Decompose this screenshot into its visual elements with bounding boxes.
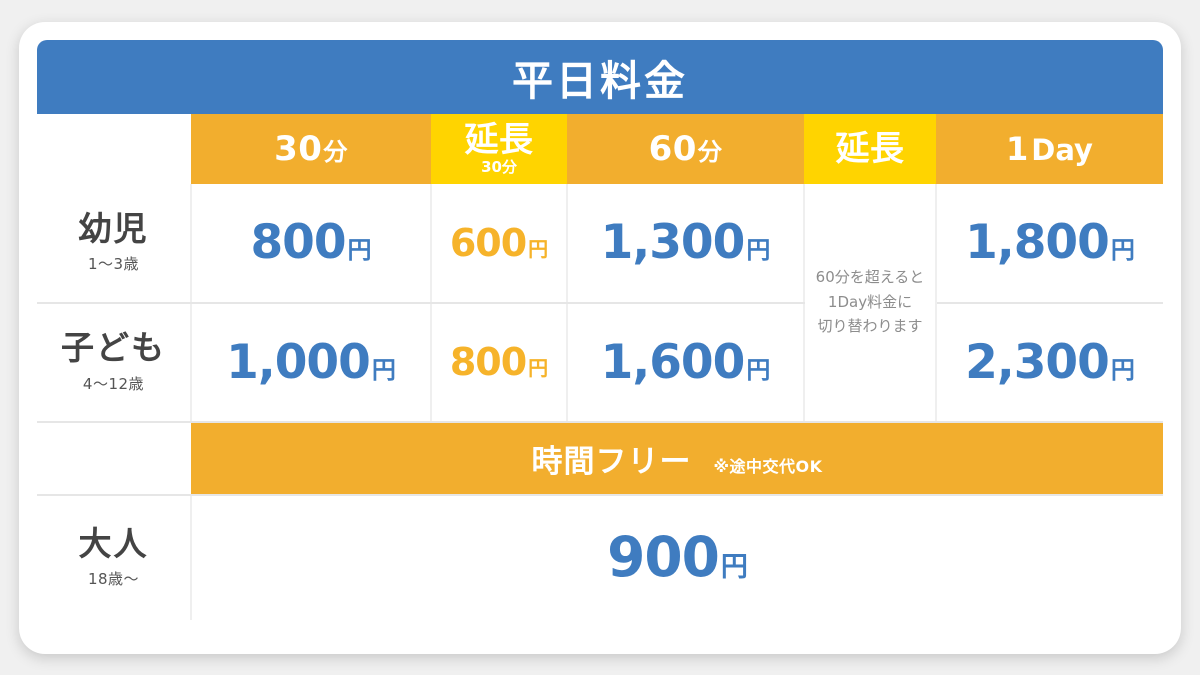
header-extension-1-sub: 30分 xyxy=(431,160,567,175)
table-row: 幼児 1〜3歳 800円 600円 1,300円 60分を超えると 1Day料金… xyxy=(37,184,1163,303)
price-value: 1,000円 xyxy=(226,335,396,390)
header-1day-label: 1Day xyxy=(1006,130,1093,168)
price-infant-60min: 1,300円 xyxy=(567,184,804,303)
pricing-card: 平日料金 30分 延長 30分 60分 延長 xyxy=(19,22,1181,654)
extension-note-line-3: 切り替わります xyxy=(805,314,935,339)
price-infant-1day: 1,800円 xyxy=(936,184,1163,303)
header-cell-extension-2: 延長 xyxy=(804,114,936,184)
header-extension-2-label: 延長 xyxy=(836,129,905,169)
row-label-child-sub: 4〜12歳 xyxy=(37,373,190,394)
header-cell-extension-1: 延長 30分 xyxy=(431,114,567,184)
price-infant-30min: 800円 xyxy=(191,184,431,303)
free-time-label: 時間フリー xyxy=(531,444,691,480)
price-adult: 900円 xyxy=(191,495,1163,620)
header-cell-30min: 30分 xyxy=(191,114,431,184)
extension-note-line-1: 60分を超えると xyxy=(805,265,935,290)
price-child-1day: 2,300円 xyxy=(936,303,1163,422)
row-label-adult-sub: 18歳〜 xyxy=(37,568,190,589)
header-30min-label: 30分 xyxy=(274,129,348,169)
table-header-row: 30分 延長 30分 60分 延長 1Day xyxy=(37,114,1163,184)
free-time-note: ※途中交代OK xyxy=(713,457,822,476)
header-cell-blank xyxy=(37,114,191,184)
rate-table: 30分 延長 30分 60分 延長 1Day 幼児 1〜3歳 8 xyxy=(37,114,1163,620)
extension-note-line-2: 1Day料金に xyxy=(805,290,935,315)
extension-note-cell: 60分を超えると 1Day料金に 切り替わります xyxy=(804,184,936,422)
price-child-30min: 1,000円 xyxy=(191,303,431,422)
free-time-band: 時間フリー※途中交代OK xyxy=(191,422,1163,495)
row-label-infant: 幼児 1〜3歳 xyxy=(37,184,191,303)
row-label-child: 子ども 4〜12歳 xyxy=(37,303,191,422)
row-label-adult-main: 大人 xyxy=(37,526,190,562)
price-value: 800円 xyxy=(250,215,371,270)
row-label-infant-main: 幼児 xyxy=(37,211,190,247)
price-value: 1,800円 xyxy=(965,215,1135,270)
price-child-60min: 1,600円 xyxy=(567,303,804,422)
row-label-adult: 大人 18歳〜 xyxy=(37,495,191,620)
header-60min-label: 60分 xyxy=(649,129,723,169)
row-label-infant-sub: 1〜3歳 xyxy=(37,253,190,274)
price-value: 800円 xyxy=(450,340,548,384)
price-value: 1,600円 xyxy=(601,335,771,390)
header-extension-1-label: 延長 xyxy=(465,120,534,160)
card-title-bar: 平日料金 xyxy=(37,40,1163,114)
price-infant-extension-1: 600円 xyxy=(431,184,567,303)
table-row: 大人 18歳〜 900円 xyxy=(37,495,1163,620)
header-cell-1day: 1Day xyxy=(936,114,1163,184)
price-value: 2,300円 xyxy=(965,335,1135,390)
row-label-child-main: 子ども xyxy=(37,330,190,366)
price-value: 900円 xyxy=(607,525,748,589)
page-title: 平日料金 xyxy=(512,47,688,107)
table-row: 子ども 4〜12歳 1,000円 800円 1,600円 2,300円 xyxy=(37,303,1163,422)
free-time-row: 時間フリー※途中交代OK xyxy=(37,422,1163,495)
price-child-extension-1: 800円 xyxy=(431,303,567,422)
price-value: 1,300円 xyxy=(601,215,771,270)
header-cell-60min: 60分 xyxy=(567,114,804,184)
price-value: 600円 xyxy=(450,221,548,265)
free-time-blank-cell xyxy=(37,422,191,495)
